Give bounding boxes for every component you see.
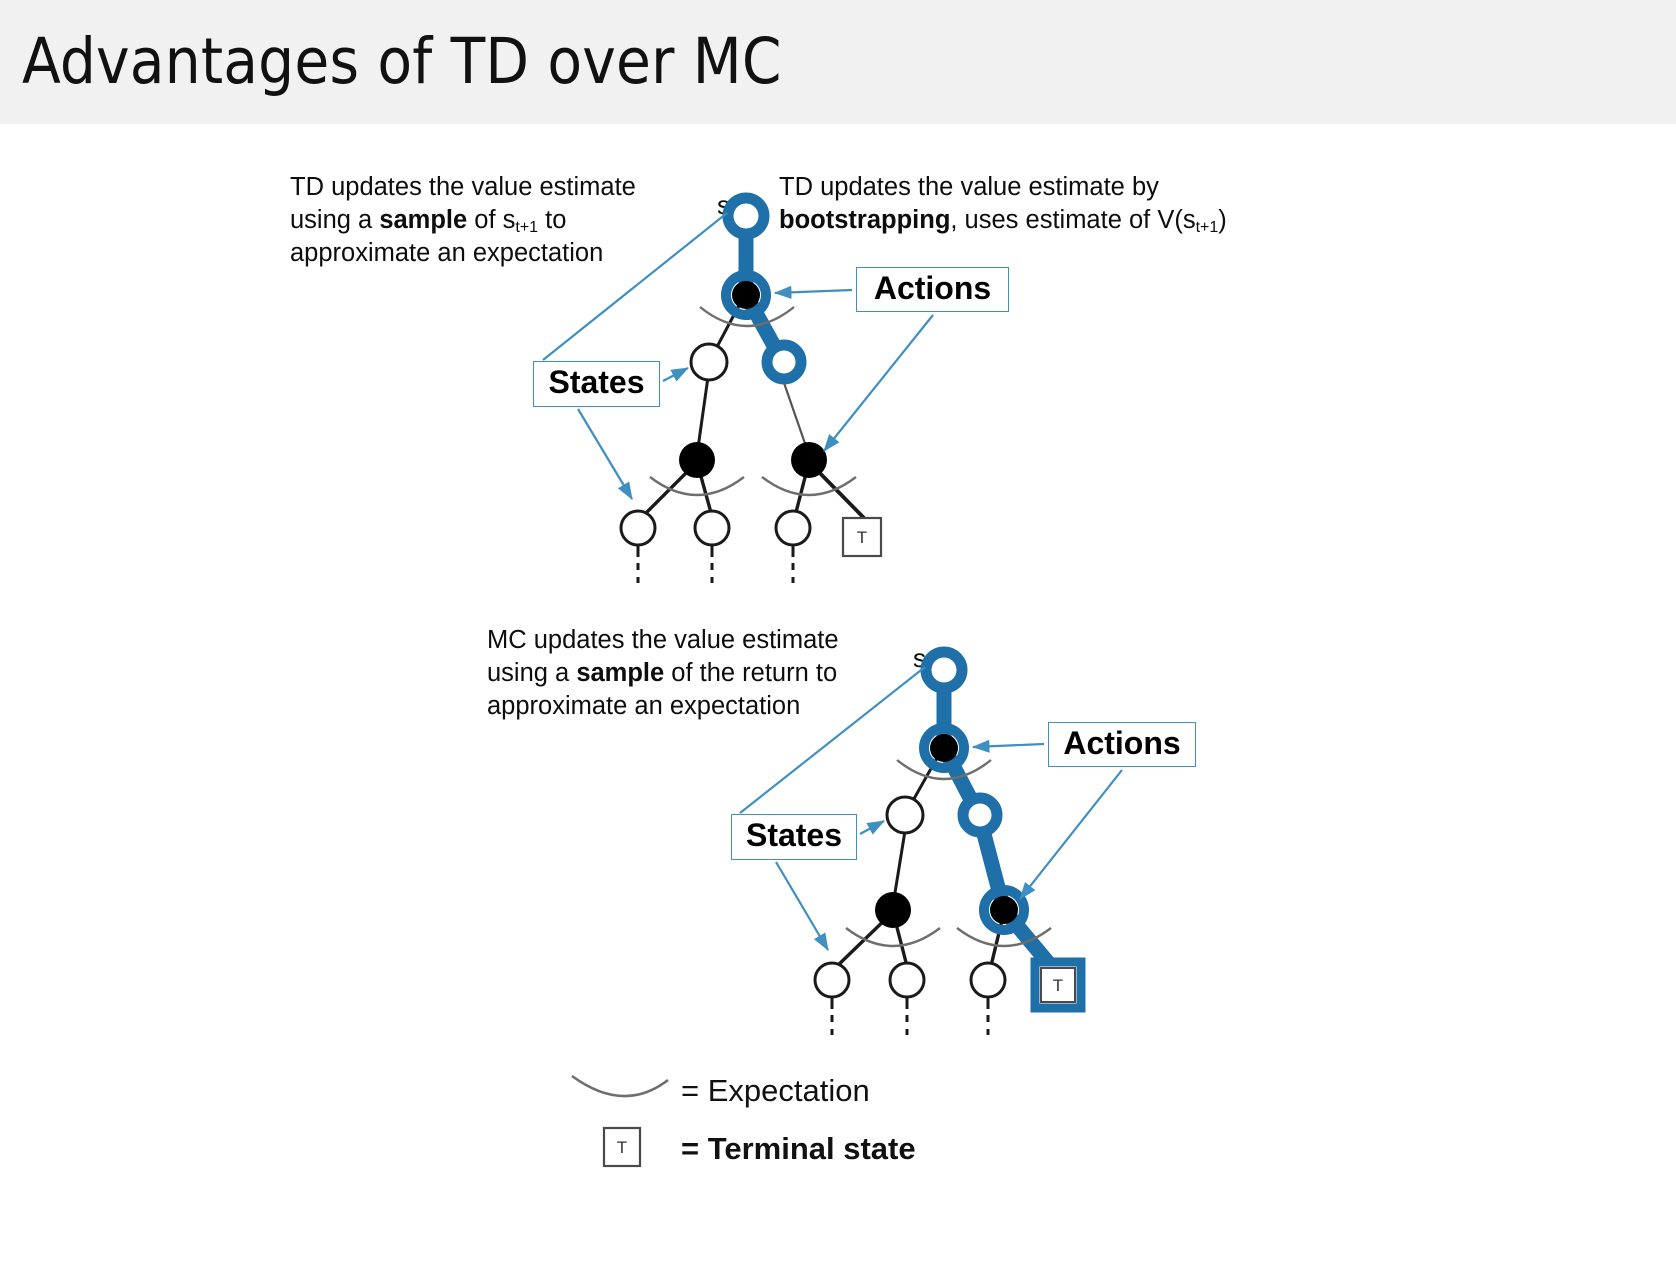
mc-note-line3: approximate an expectation <box>487 692 800 720</box>
td-left-note-line2-c: of s <box>467 206 515 234</box>
mc-terminal-state-box-highlight <box>1035 962 1081 1008</box>
mc-leaf-state-1 <box>815 963 849 997</box>
page-title: Advantages of TD over MC <box>22 26 782 98</box>
legend-terminal-box-icon <box>604 1128 640 1166</box>
td-states-arrow-down <box>578 409 632 499</box>
td-left-note: TD updates the value estimate using a sa… <box>290 171 690 270</box>
mc-state-node-left <box>887 797 923 833</box>
td-right-note-line1: TD updates the value estimate by <box>779 173 1159 201</box>
mc-highlight-action-to-terminal <box>1004 910 1056 972</box>
td-root-state-node <box>728 198 764 234</box>
td-expectation-arc-upper <box>700 307 794 326</box>
mc-edge-action-to-left-state <box>906 749 942 813</box>
mc-terminal-state-box <box>1041 968 1075 1002</box>
td-right-note-line2-c: ) <box>1218 206 1227 234</box>
td-terminal-state-box-label: T <box>857 528 867 547</box>
td-left-note-line2-d: to <box>538 206 566 234</box>
mc-highlight-state-to-action <box>979 815 1004 910</box>
td-left-note-sample: sample <box>379 206 467 234</box>
td-left-note-line2-a: using a <box>290 206 379 234</box>
mc-expectation-arc-upper <box>897 760 991 779</box>
td-root-state-label: s <box>717 190 730 221</box>
td-edge-l-action-to-s2 <box>697 462 713 520</box>
td-left-note-line3: approximate an expectation <box>290 239 603 267</box>
td-actions-callout[interactable]: Actions <box>856 267 1009 312</box>
td-leaf-state-1 <box>621 511 655 545</box>
td-right-note: TD updates the value estimate by bootstr… <box>779 171 1299 237</box>
mc-root-state-label: s <box>913 643 926 674</box>
mc-states-arrow-down <box>776 862 828 950</box>
td-action-node-bottom-left <box>679 442 715 478</box>
mc-note-line1: MC updates the value estimate <box>487 626 839 654</box>
td-expectation-arc-lower-right <box>762 477 856 495</box>
mc-action-node-highlighted-ring <box>924 728 964 768</box>
mc-note-line2-a: using a <box>487 659 576 687</box>
mc-actions-arrow-lower <box>1020 770 1122 899</box>
td-right-note-line2-b: , uses estimate of V(s <box>950 206 1195 234</box>
mc-note-line2-c: of the return to <box>664 659 837 687</box>
td-edge-r-action-to-s3 <box>794 462 809 520</box>
mc-edge-left-state-to-action <box>893 831 905 905</box>
td-edge-l-action-to-s1 <box>639 462 697 520</box>
td-terminal-state-box <box>843 518 881 556</box>
mc-note: MC updates the value estimate using a sa… <box>487 624 887 723</box>
mc-leaf-state-3 <box>971 963 1005 997</box>
td-action-node <box>732 281 760 309</box>
td-leaf-state-2 <box>695 511 729 545</box>
legend-expectation-arc-icon <box>572 1076 668 1096</box>
td-edge-r-action-to-terminal <box>809 462 864 518</box>
legend-terminal-box-label: T <box>617 1138 627 1157</box>
mc-state-node-right-highlighted <box>963 798 997 832</box>
mc-root-state-node <box>926 652 962 688</box>
td-right-note-subscript: t+1 <box>1196 219 1219 236</box>
td-right-note-bootstrapping: bootstrapping <box>779 206 950 234</box>
td-action-node-highlighted-ring <box>726 275 766 315</box>
mc-edge-r-action-to-s3 <box>990 912 1004 970</box>
td-actions-arrow <box>775 290 852 293</box>
mc-action-node-bottom-left <box>875 892 911 928</box>
mc-states-callout[interactable]: States <box>731 814 857 860</box>
legend-expectation-label: = Expectation <box>681 1073 870 1109</box>
td-left-note-subscript: t+1 <box>515 219 538 236</box>
mc-action-node-bottom-right <box>990 896 1018 924</box>
mc-action-node-bottom-right-ring <box>984 890 1024 930</box>
legend: T <box>572 1076 668 1166</box>
mc-expectation-arc-lower-left <box>846 928 940 946</box>
td-edge-right-state-to-action <box>783 380 809 455</box>
td-highlight-action-to-state <box>746 295 783 362</box>
mc-action-node <box>930 734 958 762</box>
td-actions-arrow-lower <box>824 315 933 451</box>
td-leaf-state-3 <box>776 511 810 545</box>
td-expectation-arc-lower-left <box>650 477 744 495</box>
mc-note-sample: sample <box>576 659 664 687</box>
legend-terminal-label: = Terminal state <box>681 1131 916 1167</box>
td-left-note-line1: TD updates the value estimate <box>290 173 636 201</box>
mc-actions-arrow <box>973 744 1044 747</box>
td-edge-action-to-left-state <box>710 296 744 360</box>
mc-highlight-action-to-state <box>944 748 979 815</box>
mc-edge-l-action-to-s2 <box>893 912 908 970</box>
td-state-node-right-highlighted <box>767 345 801 379</box>
mc-terminal-state-box-label: T <box>1053 976 1063 995</box>
td-edge-left-state-to-action <box>697 377 708 455</box>
td-states-arrow-to-state <box>663 368 688 381</box>
mc-leaf-state-2 <box>890 963 924 997</box>
mc-states-arrow-to-state <box>860 821 884 834</box>
mc-expectation-arc-lower-right <box>957 928 1051 946</box>
mc-actions-callout[interactable]: Actions <box>1048 722 1196 767</box>
mc-edge-l-action-to-s1 <box>833 912 893 970</box>
td-state-node-left <box>691 344 727 380</box>
td-action-node-bottom-right <box>791 442 827 478</box>
td-states-callout[interactable]: States <box>533 361 660 407</box>
